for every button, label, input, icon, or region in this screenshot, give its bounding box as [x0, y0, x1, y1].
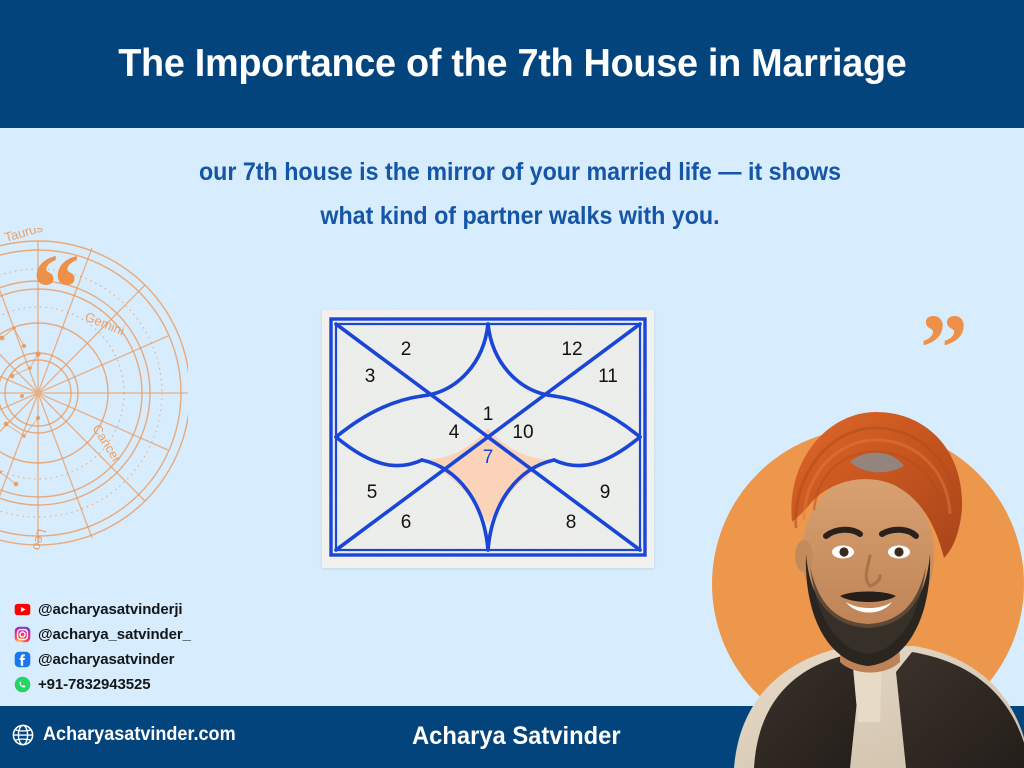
poster-canvas: ♑ ♒ ♓ ♔ II III IV V Aries Taurus Gemini … [0, 0, 1024, 768]
quote-line-1: our 7th house is the mirror of your marr… [167, 150, 874, 194]
social-item-instagram[interactable]: @acharya_satvinder_ [14, 623, 191, 645]
house-number-2: 2 [401, 339, 412, 360]
footer-website[interactable]: Acharyasatvinder.com [12, 724, 246, 746]
vest-left [754, 654, 860, 768]
close-quote-icon: ” [920, 300, 968, 396]
house-number-4: 4 [449, 422, 460, 443]
quote-line-2: what kind of partner walks with you. [167, 194, 874, 238]
facebook-icon [14, 651, 31, 668]
social-item-facebook[interactable]: @acharyasatvinder [14, 648, 191, 670]
house-number-1: 1 [483, 404, 494, 425]
house-number-10: 10 [512, 422, 533, 443]
social-item-youtube[interactable]: @acharyasatvinderji [14, 598, 191, 620]
vest-right [896, 652, 1024, 768]
house-number-8: 8 [566, 512, 577, 533]
footer-website-text: Acharyasatvinder.com [43, 724, 236, 746]
page-title: The Importance of the 7th House in Marri… [118, 42, 906, 86]
whatsapp-icon [14, 676, 31, 693]
house-number-9: 9 [600, 482, 611, 503]
avatar [700, 404, 1024, 768]
house-number-3: 3 [365, 366, 376, 387]
zodiac-label-gemini: Gemini [83, 309, 127, 338]
house-number-7: 7 [483, 447, 494, 468]
kundali-chart: 1 2 3 4 5 6 7 8 9 10 11 12 [322, 310, 654, 568]
instagram-icon [14, 626, 31, 643]
globe-icon [12, 724, 34, 746]
quote-text: our 7th house is the mirror of your marr… [167, 150, 874, 238]
social-handle-instagram: @acharya_satvinder_ [38, 626, 191, 643]
house-number-12: 12 [561, 339, 582, 360]
house-number-5: 5 [367, 482, 378, 503]
zodiac-label-cancer: Cancer [89, 422, 124, 466]
open-quote-icon: “ [32, 240, 80, 336]
footer-brand-name: Acharya Satvinder [412, 722, 621, 751]
social-handles-list: @acharyasatvinderji @acharya_satvinder_ [14, 598, 191, 698]
youtube-icon [14, 601, 31, 618]
poster-header: The Importance of the 7th House in Marri… [0, 0, 1024, 128]
social-handle-facebook: @acharyasatvinder [38, 651, 174, 668]
house-number-6: 6 [401, 512, 412, 533]
social-item-whatsapp[interactable]: +91-7832943525 [14, 673, 191, 695]
social-handle-whatsapp: +91-7832943525 [38, 676, 150, 693]
house-number-11: 11 [598, 366, 618, 387]
quote-section: “ ” our 7th house is the mirror of your … [0, 128, 1024, 303]
zodiac-label-leo: Leo [29, 527, 49, 552]
social-handle-youtube: @acharyasatvinderji [38, 601, 182, 618]
